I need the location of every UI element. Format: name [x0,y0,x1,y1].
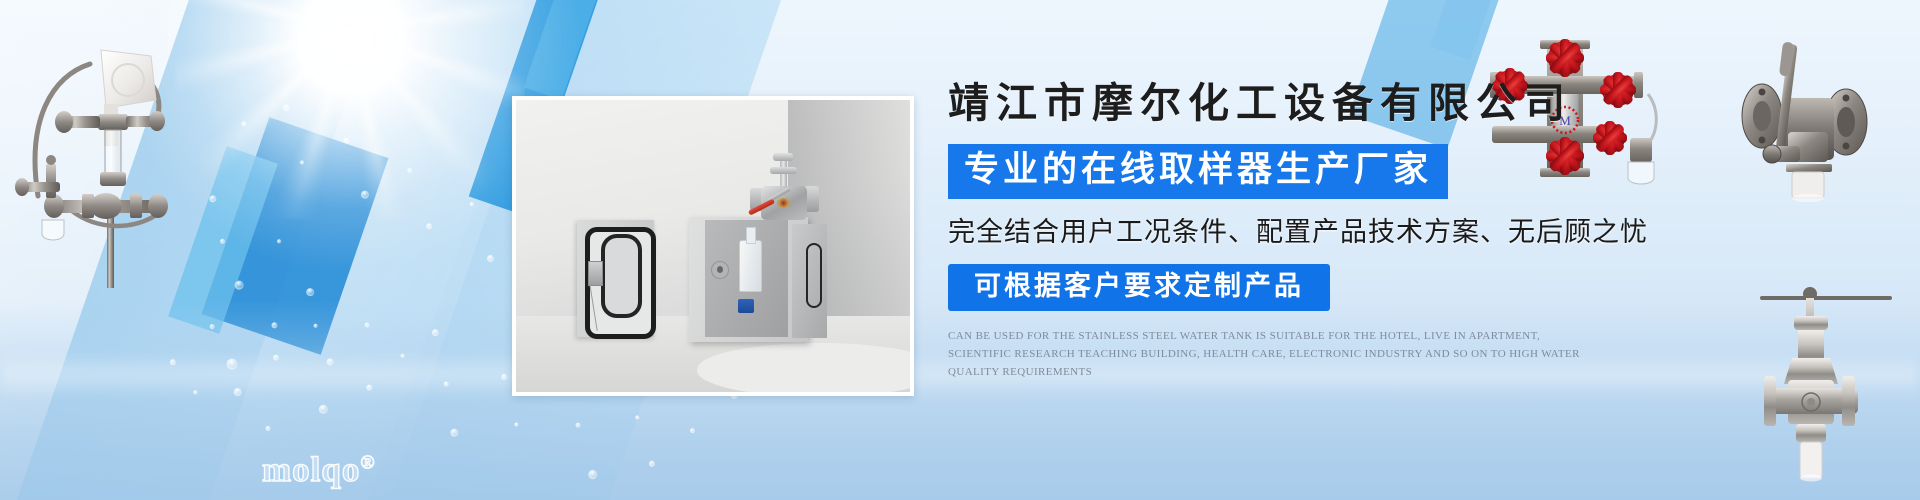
water-drop [208,194,217,203]
headline-badge: 专业的在线取样器生产厂家 [948,144,1448,199]
diagonal-stripe-2 [524,0,637,100]
water-drop [305,287,315,297]
water-drop [366,384,374,392]
water-drop [233,387,243,397]
water-drop [443,381,449,387]
diagonal-stripe-3 [202,117,389,355]
water-drop [169,358,177,366]
water-drop [407,167,413,173]
water-drop [343,137,351,145]
water-drop [241,121,247,127]
water-drop [233,279,244,290]
water-drop [271,321,279,329]
custom-product-badge: 可根据客户要求定制产品 [948,264,1330,311]
promo-banner: M [0,0,1920,500]
water-drop [318,404,329,415]
water-drop [209,323,215,329]
text-content: 靖江市摩尔化工设备有限公司 专业的在线取样器生产厂家 完全结合用户工况条件、配置… [948,78,1738,382]
water-drop [400,353,405,358]
water-drop [425,222,433,230]
water-drop [265,425,271,431]
left-equipment-image [6,24,186,288]
water-drop [360,190,370,200]
water-drop [313,323,318,328]
water-drop [500,373,508,381]
water-drop [193,390,198,395]
watermark-logo: molqo® [262,452,376,487]
water-drop [514,422,519,427]
sun-rays-icon [175,0,525,220]
water-drop [277,239,282,244]
water-drop [225,357,239,371]
water-drop [431,328,440,337]
water-drop [364,322,370,328]
water-drop [219,238,225,244]
water-drop [648,460,656,468]
sub-headline: 完全结合用户工况条件、配置产品技术方案、无后顾之忧 [948,216,1738,248]
water-drop [282,103,291,112]
water-drop [469,201,474,206]
water-drop [587,469,598,480]
water-drop [326,357,335,366]
water-drop [635,415,640,420]
tee-valve-image [1758,276,1908,500]
company-name: 靖江市摩尔化工设备有限公司 [948,78,1738,129]
water-drop [575,422,581,428]
registered-trademark-icon: ® [360,452,375,473]
english-caption: CAN BE USED FOR THE STAINLESS STEEL WATE… [948,328,1598,381]
water-drop [486,254,495,263]
water-drop [689,427,695,433]
water-drop [449,428,459,438]
center-product-photo [512,96,914,396]
watermark-text: molqo [262,450,360,489]
water-drop [272,354,280,362]
sunburst-icon [120,0,580,270]
water-drop [300,160,305,165]
